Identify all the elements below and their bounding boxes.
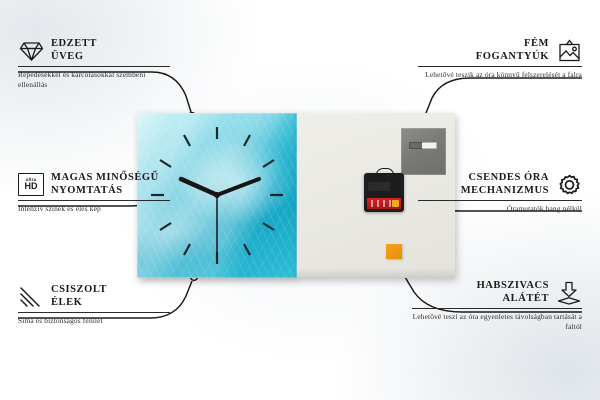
feature-metal-handles: FÉM FOGANTYÚK Lehetővé teszik az óra kön… — [418, 38, 582, 80]
mechanism-lip — [368, 182, 390, 191]
feature-title: FÉM FOGANTYÚK — [476, 38, 549, 63]
gear-icon — [556, 173, 582, 197]
hanger-slot — [409, 142, 437, 149]
feature-divider — [18, 312, 170, 313]
feature-title: EDZETT ÜVEG — [51, 38, 97, 63]
connector-line-4 — [426, 78, 582, 113]
feature-title: MAGAS MINŐSÉGŰ NYOMTATÁS — [51, 172, 159, 197]
feature-description: Lehetővé teszi az óra egyenletes távolsá… — [412, 312, 582, 331]
feature-polished-edges: CSISZOLT ÉLEK Sima és biztonságos felüle… — [18, 284, 170, 326]
ultra-hd-icon: ultra HD — [18, 173, 44, 197]
feature-title: CSENDES ÓRA MECHANIZMUS — [461, 172, 549, 197]
ultra-hd-icon-large-label: HD — [25, 182, 38, 191]
foam-pad-icon — [556, 281, 582, 305]
clock-mechanism — [364, 173, 404, 212]
feature-foam-pad: HABSZIVACS ALÁTÉT Lehetővé teszi az óra … — [412, 280, 582, 331]
feature-description: Sima és biztonságos felület — [18, 316, 170, 326]
mechanism-hook — [376, 168, 394, 177]
feature-description: Repedésekkel és karcolásokkal szembeni e… — [18, 70, 170, 89]
feature-tempered-glass: EDZETT ÜVEG Repedésekkel és karcolásokka… — [18, 38, 170, 89]
battery-terminal — [392, 200, 399, 207]
picture-hanger-icon — [556, 39, 582, 63]
feature-divider — [18, 200, 170, 201]
feature-description: Intenzív színek és éles kép — [18, 204, 170, 214]
feature-title: CSISZOLT ÉLEK — [51, 284, 107, 309]
feature-silent-mechanism: CSENDES ÓRA MECHANIZMUS Óramutatók hang … — [418, 172, 582, 214]
feature-description: Lehetővé teszik az óra könnyű felszerelé… — [418, 70, 582, 80]
feature-title: HABSZIVACS ALÁTÉT — [477, 280, 549, 305]
battery — [367, 198, 401, 209]
back-panel-shadow — [297, 268, 455, 278]
metal-hanger-bracket — [401, 128, 446, 175]
polished-edges-icon — [18, 285, 44, 309]
feature-description: Óramutatók hang nélkül — [418, 204, 582, 214]
feature-divider — [412, 308, 582, 309]
feature-divider — [418, 200, 582, 201]
feature-divider — [418, 66, 582, 67]
foam-pad — [386, 244, 402, 259]
infographic-canvas: EDZETT ÜVEG Repedésekkel és karcolásokka… — [0, 0, 600, 400]
feature-divider — [18, 66, 170, 67]
feature-hd-printing: ultra HD MAGAS MINŐSÉGŰ NYOMTATÁS Intenz… — [18, 172, 170, 214]
diamond-icon — [18, 39, 44, 63]
